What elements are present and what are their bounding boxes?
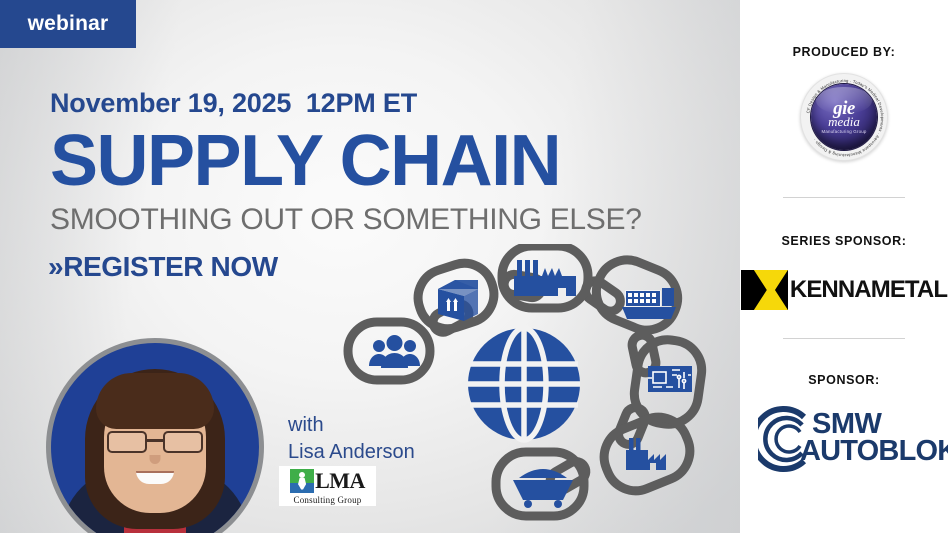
- glasses-lens-right: [163, 431, 203, 453]
- people-group-icon: [369, 335, 420, 368]
- smw-text-block: SMW AUTOBLOK: [800, 411, 948, 464]
- sponsor-label: SPONSOR:: [808, 373, 879, 387]
- container-ship-icon: [622, 288, 676, 319]
- headline-block: November 19, 2025 12PM ET SUPPLY CHAIN S…: [50, 88, 642, 237]
- speaker-name: Lisa Anderson: [288, 439, 415, 466]
- gie-media-logo: CF Design & Manufacturing · Today's Medi…: [800, 73, 888, 161]
- smw-line-2: AUTOBLOK: [800, 438, 948, 465]
- factory-plant-icon: [626, 438, 666, 470]
- lma-tagline: Consulting Group: [294, 495, 362, 505]
- kennametal-wordmark: KENNAMETAL: [790, 276, 947, 304]
- portrait-fringe: [96, 373, 214, 429]
- kennametal-logo: KENNAMETAL: [741, 270, 947, 310]
- register-now-link[interactable]: »REGISTER NOW: [48, 251, 278, 283]
- globe-icon: [468, 328, 580, 440]
- lma-wordmark: LMA: [315, 470, 365, 492]
- page-title: SUPPLY CHAIN: [50, 127, 642, 195]
- speaker-with-label: with: [288, 412, 415, 439]
- register-now-label: REGISTER NOW: [63, 251, 278, 282]
- webinar-badge-label: webinar: [28, 12, 109, 36]
- kennametal-chevron: [754, 270, 788, 310]
- webinar-badge: webinar: [0, 0, 136, 48]
- mining-cart-icon: [513, 469, 573, 508]
- webinar-promo-graphic: webinar November 19, 2025 12PM ET SUPPLY…: [0, 0, 948, 533]
- divider-1: [783, 197, 905, 198]
- gie-media-word: media: [828, 115, 860, 128]
- produced-by-label: PRODUCED BY:: [793, 45, 896, 59]
- main-content-panel: webinar November 19, 2025 12PM ET SUPPLY…: [0, 0, 740, 533]
- supply-chain-link-diagram: .lk { fill:none; stroke:#5d5d5d; stroke-…: [336, 244, 716, 533]
- factory-icon: [514, 260, 576, 296]
- microchip-circuit-icon: [648, 366, 692, 392]
- lma-logo-row: LMA: [290, 468, 365, 494]
- series-sponsor-label: SERIES SPONSOR:: [782, 234, 907, 248]
- gie-tagline: Manufacturing Group: [821, 129, 866, 134]
- chain-link-people: [348, 322, 430, 380]
- kennametal-k-icon: [741, 270, 788, 310]
- glasses-lens-left: [107, 431, 147, 453]
- speaker-block: with Lisa Anderson: [288, 412, 415, 466]
- smw-autoblok-logo: SMW AUTOBLOK: [758, 403, 930, 475]
- avatar: [46, 338, 264, 533]
- glasses-icon: [107, 431, 203, 453]
- page-subtitle: SMOOTHING OUT OR SOMETHING ELSE?: [50, 203, 642, 237]
- double-chevron-icon: »: [48, 251, 63, 282]
- lma-figure-icon: [290, 469, 314, 493]
- glasses-bridge: [147, 439, 163, 442]
- smw-line-1: SMW: [800, 411, 948, 438]
- lma-consulting-logo: LMA Consulting Group: [279, 466, 376, 506]
- package-box-icon: [438, 280, 478, 321]
- gie-badge-inner: gie media Manufacturing Group: [811, 84, 877, 150]
- event-date-time: November 19, 2025 12PM ET: [50, 88, 642, 119]
- sponsor-sidebar: PRODUCED BY: CF Design & Manufacturing ·…: [740, 0, 948, 533]
- lma-icon-head: [299, 472, 305, 478]
- divider-2: [783, 338, 905, 339]
